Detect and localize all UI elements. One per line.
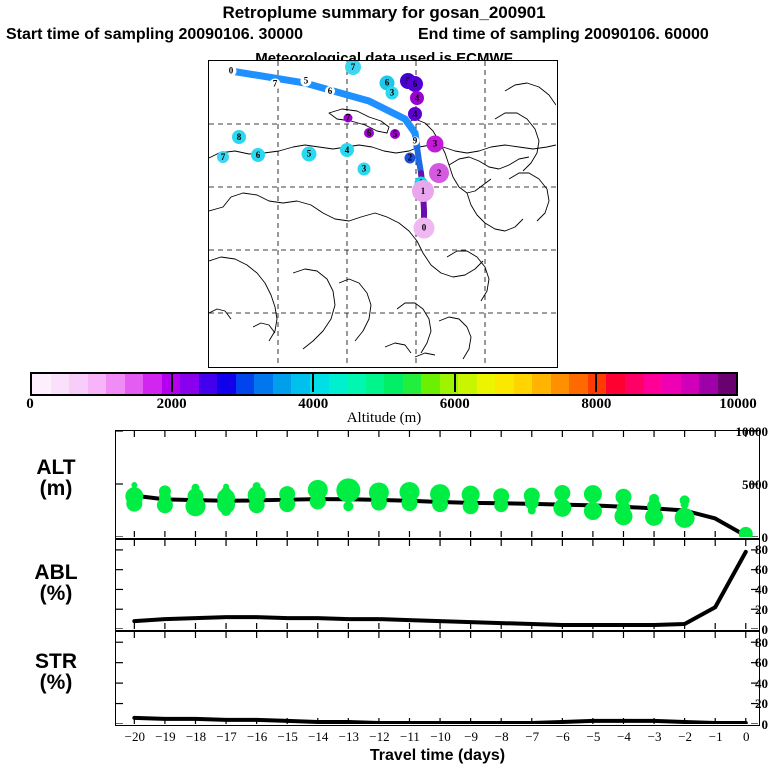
row-label-abl-line1: ABL: [4, 562, 108, 583]
scatter-point: [681, 501, 689, 509]
x-tick-label: −12: [369, 729, 389, 745]
scatter-point: [401, 495, 417, 511]
map-marker-label: 3: [390, 89, 395, 98]
x-tick-label: −8: [495, 729, 509, 745]
chart-panel-alt[interactable]: [115, 430, 760, 539]
map-marker-label: 5: [304, 77, 309, 86]
map-marker: 6: [251, 148, 265, 162]
chart-panel-str[interactable]: [115, 631, 760, 726]
chart-panel-abl[interactable]: [115, 539, 760, 631]
colorbar-swatch: [217, 374, 236, 394]
scatter-point: [494, 498, 508, 512]
page-title: Retroplume summary for gosan_200901: [0, 3, 768, 23]
scatter-point: [185, 496, 205, 516]
map-marker-label: 7: [273, 80, 278, 89]
scatter-point: [645, 508, 663, 526]
x-tick-label: −15: [278, 729, 298, 745]
colorbar-swatch: [699, 374, 718, 394]
y-tick-label: 5000: [742, 477, 768, 493]
scatter-point: [371, 495, 387, 511]
row-label-alt-line2: (m): [4, 478, 108, 499]
colorbar-swatch: [681, 374, 700, 394]
map-marker-label: 8: [237, 133, 242, 142]
colorbar-swatch: [569, 374, 588, 394]
colorbar-swatch: [180, 374, 199, 394]
colorbar-swatch: [69, 374, 88, 394]
colorbar-swatch: [254, 374, 273, 394]
y-tick-label: 20: [755, 696, 768, 712]
map-marker: 6: [325, 86, 335, 96]
row-label-str-line1: STR: [4, 651, 108, 672]
colorbar-swatch: [662, 374, 681, 394]
scatter-point: [584, 502, 602, 520]
map-marker: 5: [390, 129, 400, 139]
x-tick-label: −19: [155, 729, 175, 745]
map-marker: 4: [410, 91, 424, 105]
colorbar-swatch: [366, 374, 385, 394]
x-tick-label: −13: [339, 729, 359, 745]
map-marker-label: 6: [328, 87, 333, 96]
map-marker-label: 4: [413, 110, 418, 119]
colorbar-swatch: [458, 374, 477, 394]
start-time-label: Start time of sampling 20090106. 30000: [6, 26, 303, 44]
map-marker-label: 6: [367, 129, 372, 138]
map-marker-label: 5: [307, 150, 312, 159]
map-marker-label: 7: [221, 153, 226, 162]
row-label-str: STR (%): [4, 651, 108, 694]
map-marker-label: 2: [408, 154, 413, 163]
colorbar-swatch: [495, 374, 514, 394]
x-tick-label: −9: [464, 729, 478, 745]
coastline-paths: [209, 83, 556, 359]
map-marker: 0: [414, 218, 435, 239]
colorbar-swatch: [606, 374, 625, 394]
y-tick-label: 20: [755, 602, 768, 618]
colorbar-swatch: [625, 374, 644, 394]
x-tick-label: −1: [709, 729, 723, 745]
x-tick-label: −17: [216, 729, 236, 745]
x-tick-label: −18: [186, 729, 206, 745]
colorbar-tick: [595, 372, 597, 392]
scatter-point: [619, 517, 627, 525]
map-marker: 1: [412, 180, 434, 202]
y-tick-label: 0: [762, 717, 768, 733]
colorbar-swatch: [477, 374, 496, 394]
row-label-alt: ALT (m): [4, 457, 108, 500]
colorbar-swatch: [644, 374, 663, 394]
x-tick-label: −10: [430, 729, 450, 745]
colorbar-swatch: [347, 374, 366, 394]
map-marker-label: 6: [413, 80, 418, 89]
x-tick-label: −5: [586, 729, 600, 745]
x-tick-label: −3: [648, 729, 662, 745]
map-marker-label: 5: [393, 130, 398, 139]
map-marker: 8: [232, 130, 246, 144]
scatter-point: [675, 508, 695, 528]
colorbar-tick: [312, 372, 314, 392]
y-tick-label: 40: [755, 582, 768, 598]
map-coastlines-and-trajectory: [209, 61, 556, 366]
map-marker: 5: [301, 76, 312, 87]
map-marker: 3: [358, 163, 371, 176]
colorbar-tick: [454, 372, 456, 392]
map-marker: 7: [270, 79, 281, 90]
x-tick-label: −11: [400, 729, 420, 745]
colorbar-swatch: [532, 374, 551, 394]
map-marker-label: 4: [345, 146, 350, 155]
abl-plot-area: [116, 540, 758, 629]
map-marker: 2: [429, 163, 449, 183]
map-marker-label: 7: [351, 63, 356, 72]
scatter-point: [249, 497, 265, 513]
row-label-abl-line2: (%): [4, 583, 108, 604]
colorbar-swatch: [125, 374, 144, 394]
scatter-point: [336, 478, 360, 502]
x-tick-label: −2: [678, 729, 692, 745]
row-label-str-line2: (%): [4, 672, 108, 693]
scatter-point: [463, 498, 479, 514]
colorbar-swatch: [514, 374, 533, 394]
map-marker: 2: [405, 153, 416, 164]
scatter-point: [554, 485, 570, 501]
map-marker-label: 1: [421, 187, 426, 196]
scatter-point: [584, 485, 602, 503]
map-marker: 0: [226, 66, 237, 77]
x-tick-label: −7: [525, 729, 539, 745]
colorbar-swatch: [291, 374, 310, 394]
retroplume-map[interactable]: 075763564648765436753922110: [208, 60, 558, 368]
row-label-abl: ABL (%): [4, 562, 108, 605]
colorbar-swatch: [403, 374, 422, 394]
map-marker: 4: [340, 143, 354, 157]
scatter-point: [553, 499, 571, 517]
x-axis-title: Travel time (days): [115, 747, 760, 765]
scatter-point: [739, 527, 753, 537]
colorbar-swatch: [551, 374, 570, 394]
scatter-point: [432, 496, 448, 512]
y-tick-label: 10000: [736, 424, 768, 440]
map-marker-label: 9: [413, 137, 418, 146]
colorbar-swatch: [329, 374, 348, 394]
end-time-label: End time of sampling 20090106. 60000: [418, 26, 709, 44]
colorbar-swatch: [384, 374, 403, 394]
alt-plot-area: [116, 431, 758, 537]
x-tick-label: −6: [556, 729, 570, 745]
scatter-point: [279, 496, 295, 512]
scatter-point: [528, 507, 536, 515]
map-marker: 6: [407, 76, 423, 92]
map-marker: 7: [344, 114, 353, 123]
map-marker-label: 0: [229, 67, 234, 76]
map-marker-label: 0: [422, 224, 427, 233]
colorbar-swatch: [273, 374, 292, 394]
x-tick-label: 0: [743, 729, 750, 745]
altitude-colorbar[interactable]: [30, 372, 738, 396]
x-tick-label: −14: [308, 729, 328, 745]
map-marker: 3: [386, 87, 399, 100]
y-tick-label: 60: [755, 655, 768, 671]
colorbar-title: Altitude (m): [0, 410, 768, 427]
colorbar-swatch: [51, 374, 70, 394]
map-marker-label: 2: [437, 169, 442, 178]
colorbar-tick: [171, 372, 173, 392]
map-marker-label: 7: [346, 114, 351, 123]
map-marker-label: 3: [433, 140, 438, 149]
colorbar-swatch: [199, 374, 218, 394]
scatter-point: [126, 496, 142, 512]
map-marker-label: 4: [415, 94, 420, 103]
y-tick-label: 60: [755, 562, 768, 578]
scatter-point: [221, 506, 231, 516]
colorbar-swatch: [236, 374, 255, 394]
colorbar-swatch: [32, 374, 51, 394]
y-tick-label: 80: [755, 542, 768, 558]
colorbar-swatch: [88, 374, 107, 394]
y-tick-label: 80: [755, 635, 768, 651]
map-marker: 3: [427, 136, 444, 153]
map-marker: 5: [302, 147, 317, 162]
row-label-alt-line1: ALT: [4, 457, 108, 478]
colorbar-swatch: [106, 374, 125, 394]
map-marker-label: 3: [362, 165, 367, 174]
y-tick-label: 40: [755, 676, 768, 692]
scatter-point: [343, 501, 353, 511]
map-marker: 7: [217, 151, 229, 163]
map-marker: 6: [364, 128, 374, 138]
map-marker-label: 6: [256, 151, 261, 160]
map-marker: 4: [408, 107, 422, 121]
colorbar-swatch: [718, 374, 737, 394]
map-marker: 9: [411, 137, 420, 146]
scatter-point: [310, 493, 326, 509]
x-tick-label: −20: [125, 729, 145, 745]
colorbar-swatch: [143, 374, 162, 394]
x-tick-label: −4: [617, 729, 631, 745]
x-tick-label: −16: [247, 729, 267, 745]
series-line: [134, 552, 745, 625]
str-plot-area: [116, 632, 758, 724]
colorbar-swatch: [421, 374, 440, 394]
scatter-point: [157, 497, 173, 513]
